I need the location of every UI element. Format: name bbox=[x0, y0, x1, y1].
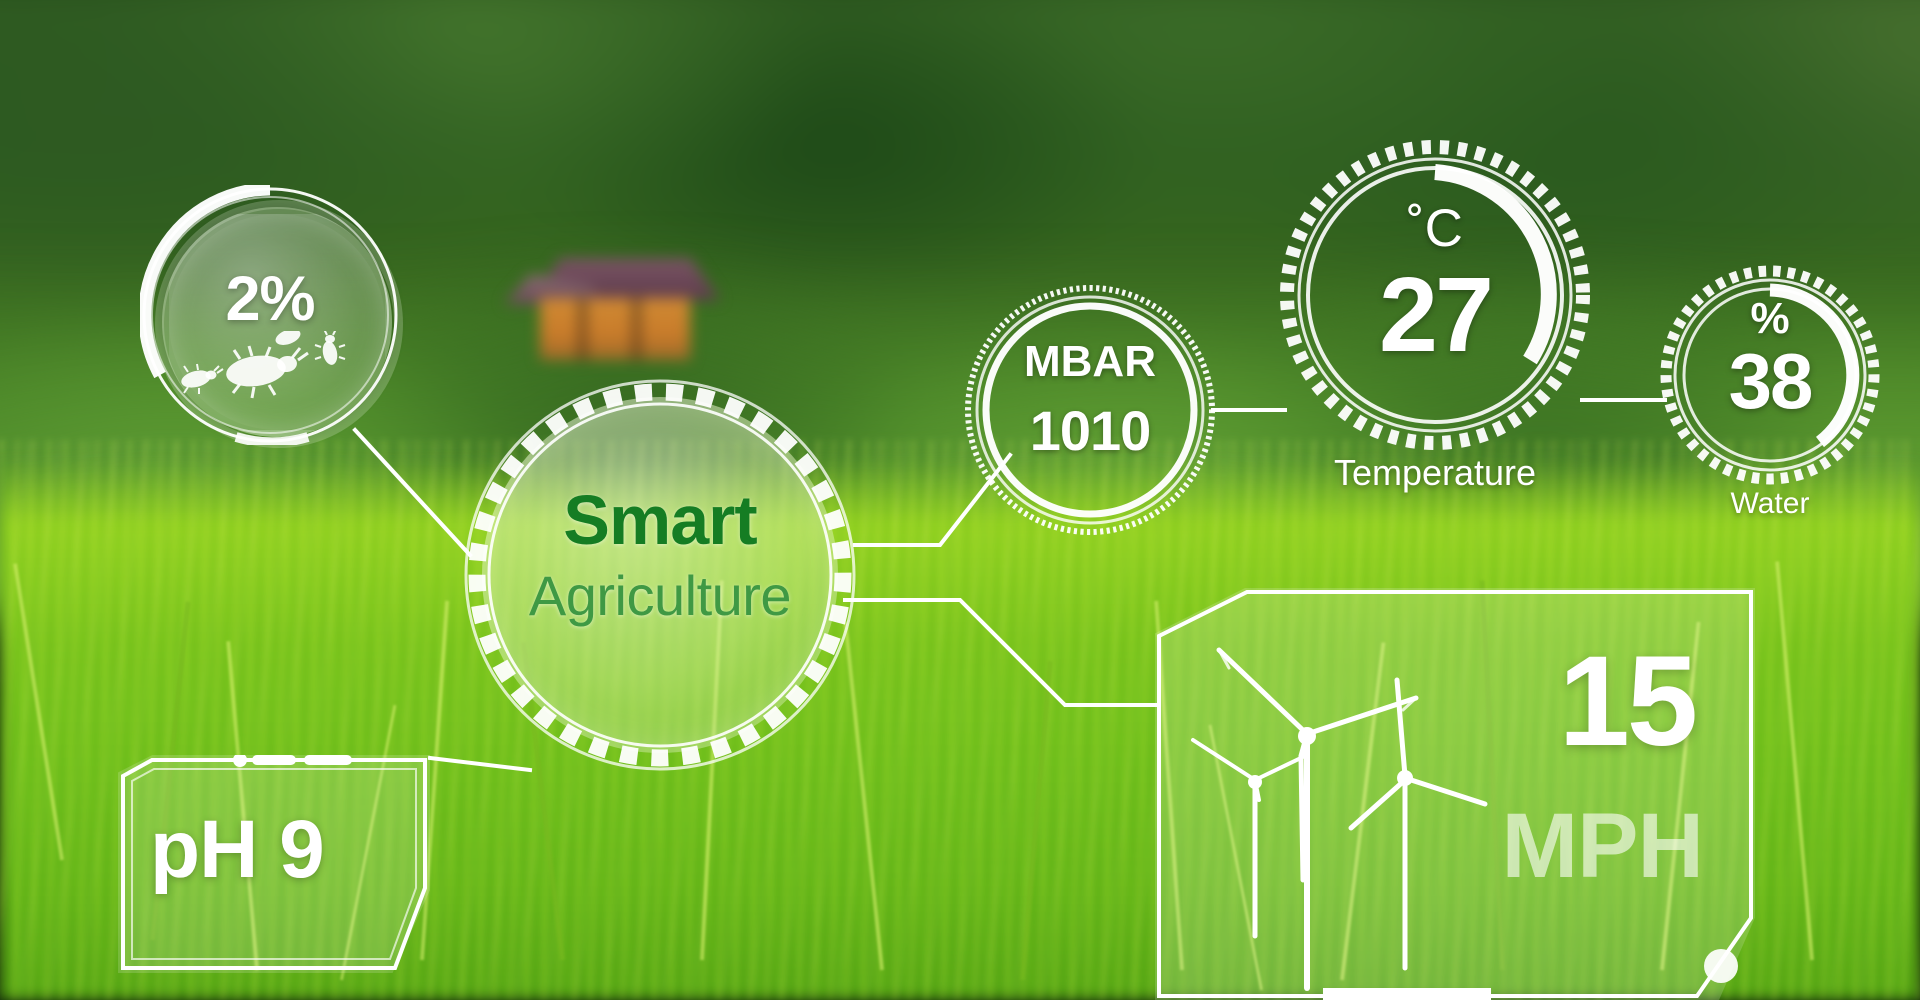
temperature-unit: ˚C bbox=[1280, 202, 1590, 255]
temperature-value: 27 bbox=[1280, 262, 1590, 368]
smart-title: Smart bbox=[460, 485, 860, 555]
water-caption: Water bbox=[1620, 487, 1920, 521]
pest-value: 2% bbox=[140, 263, 400, 335]
smart-subtitle: Agriculture bbox=[460, 568, 860, 624]
farm-house bbox=[510, 240, 720, 370]
house-wall bbox=[540, 298, 690, 360]
house-post bbox=[632, 298, 641, 360]
panel-wind[interactable]: 15 MPH bbox=[1155, 588, 1755, 1000]
insect-icon bbox=[170, 331, 370, 401]
center-node-smart-agriculture[interactable]: Smart Agriculture bbox=[460, 375, 860, 775]
gauge-temperature[interactable]: ˚C 27 Temperature bbox=[1280, 140, 1590, 450]
pressure-value: 1010 bbox=[965, 398, 1215, 463]
gauge-water[interactable]: % 38 Water bbox=[1660, 265, 1880, 485]
wind-unit: MPH bbox=[1502, 800, 1703, 892]
pressure-unit-label: MBAR bbox=[965, 337, 1215, 387]
wind-value: 15 bbox=[1559, 638, 1695, 766]
temperature-caption: Temperature bbox=[1260, 452, 1610, 494]
house-post bbox=[578, 298, 587, 360]
gauge-pressure[interactable]: MBAR 1010 bbox=[965, 285, 1215, 535]
smart-agriculture-infographic: 2% bbox=[0, 0, 1920, 1000]
ph-value: pH 9 bbox=[118, 803, 430, 897]
panel-ph[interactable]: pH 9 bbox=[118, 755, 430, 973]
water-unit: % bbox=[1660, 297, 1880, 341]
water-value: 38 bbox=[1660, 342, 1880, 420]
gauge-pest[interactable]: 2% bbox=[140, 185, 400, 445]
